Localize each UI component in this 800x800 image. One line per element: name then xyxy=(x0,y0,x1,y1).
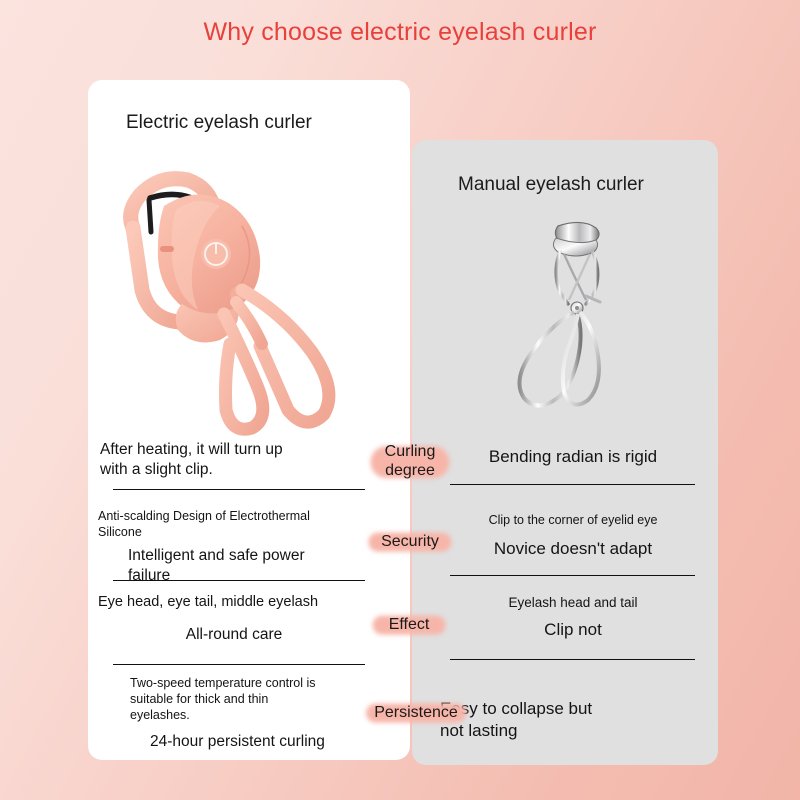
row-0-left-value: After heating, it will turn up with a sl… xyxy=(100,440,368,480)
row-1-left-sub: Anti-scalding Design of Electrothermal S… xyxy=(98,509,366,541)
row-0-label: Curling degree xyxy=(372,440,448,484)
row-0-divider-left xyxy=(113,489,365,490)
row-2-divider-right xyxy=(450,659,695,660)
row-1-divider-left xyxy=(113,580,365,581)
row-3-right-main: Easy to collapse but not lasting xyxy=(440,698,698,742)
row-2-left-sub: Eye head, eye tail, middle eyelash xyxy=(98,593,370,612)
comparison-infographic: Why choose electric eyelash curler Manua… xyxy=(0,0,800,800)
comparison-table: After heating, it will turn up with a sl… xyxy=(0,0,800,800)
row-0-right-value: Bending radian is rigid xyxy=(444,446,702,468)
row-2-right-sub: Eyelash head and tail xyxy=(444,594,702,611)
row-3-right-value: Easy to collapse but not lasting xyxy=(440,698,698,742)
row-2-label: Effect xyxy=(374,612,444,638)
row-0-right-main: Bending radian is rigid xyxy=(444,446,702,468)
row-3-label: Persistence xyxy=(368,700,464,726)
row-2-left-main: All-round care xyxy=(98,625,370,645)
row-2-divider-left xyxy=(113,664,365,665)
row-2-right-value: Eyelash head and tail Clip not xyxy=(444,594,702,641)
row-3-left-main: 24-hour persistent curling xyxy=(130,732,370,752)
row-2-left-value: Eye head, eye tail, middle eyelash All-r… xyxy=(98,593,370,645)
row-1-label: Security xyxy=(370,529,450,555)
row-1-right-value: Clip to the corner of eyelid eye Novice … xyxy=(444,513,702,560)
row-3-left-sub: Two-speed temperature control is suitabl… xyxy=(130,676,370,723)
row-1-divider-right xyxy=(450,575,695,576)
row-1-right-sub: Clip to the corner of eyelid eye xyxy=(444,513,702,529)
row-3-left-value: Two-speed temperature control is suitabl… xyxy=(130,676,370,752)
row-2-right-main: Clip not xyxy=(444,619,702,641)
row-0-divider-right xyxy=(450,484,695,485)
row-0-left-main: After heating, it will turn up with a sl… xyxy=(100,440,368,480)
row-1-left-value: Anti-scalding Design of Electrothermal S… xyxy=(98,509,366,586)
row-1-right-main: Novice doesn't adapt xyxy=(444,538,702,560)
